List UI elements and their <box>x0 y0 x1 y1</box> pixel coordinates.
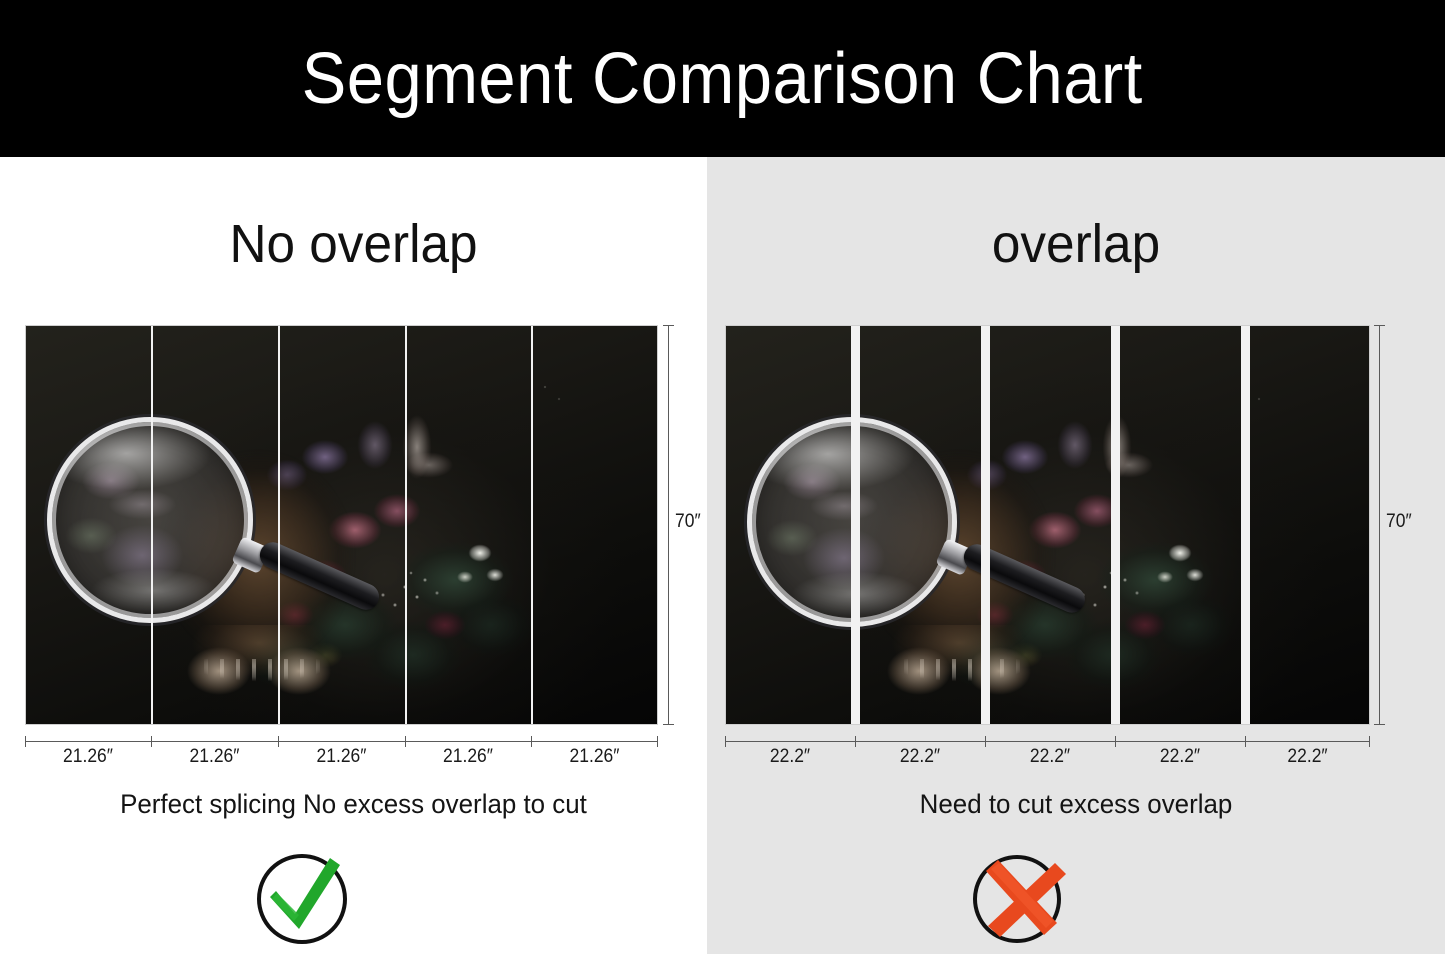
seam-line-overlap <box>1111 325 1120 725</box>
height-label-left: 70″ <box>675 511 701 533</box>
page-title: Segment Comparison Chart <box>302 43 1143 115</box>
height-dimension-left: 70″ <box>662 325 702 725</box>
panel-overlap: overlap <box>707 157 1445 954</box>
comparison-panels: No overlap <box>0 157 1445 954</box>
mural-overlap <box>725 325 1370 725</box>
dimension-tick <box>25 736 26 747</box>
dimension-line <box>25 741 658 742</box>
dimension-tick <box>151 736 152 747</box>
dimension-line <box>1379 325 1380 725</box>
dimension-tick <box>855 736 856 747</box>
seam-line <box>278 325 280 725</box>
mural-no-overlap <box>25 325 658 725</box>
dimension-tick <box>1374 724 1385 725</box>
dimension-line <box>725 741 1370 742</box>
seam-lines-left <box>25 325 658 725</box>
segment-width-label: 22.2″ <box>860 746 980 768</box>
dimension-tick <box>1374 325 1385 326</box>
segment-width-label: 21.26″ <box>536 746 653 768</box>
segment-comparison-page: Segment Comparison Chart No overlap <box>0 0 1445 954</box>
dimension-line <box>668 325 669 725</box>
segment-width-label: 21.26″ <box>410 746 526 768</box>
seam-line-overlap <box>851 325 860 725</box>
dimension-tick <box>405 736 406 747</box>
dimension-tick <box>1369 736 1370 747</box>
panel-no-overlap: No overlap <box>0 157 707 954</box>
segment-width-label: 21.26″ <box>30 746 146 768</box>
seam-line <box>151 325 153 725</box>
cross-icon <box>969 845 1073 949</box>
dimension-tick <box>531 736 532 747</box>
dimension-tick <box>1245 736 1246 747</box>
segment-width-label: 22.2″ <box>730 746 850 768</box>
heading-overlap: overlap <box>725 217 1426 271</box>
seam-lines-right <box>725 325 1370 725</box>
dimension-tick <box>278 736 279 747</box>
segment-width-label: 22.2″ <box>1250 746 1365 768</box>
width-dimensions-left: 21.26″ 21.26″ 21.26″ 21.26″ 21.26″ <box>25 741 658 783</box>
caption-overlap: Need to cut excess overlap <box>722 789 1430 820</box>
seam-line <box>531 325 533 725</box>
check-icon <box>250 845 354 949</box>
width-dimensions-right: 22.2″ 22.2″ 22.2″ 22.2″ 22.2″ <box>725 741 1370 783</box>
heading-no-overlap: No overlap <box>18 217 690 271</box>
caption-no-overlap: Perfect splicing No excess overlap to cu… <box>14 789 693 820</box>
dimension-tick <box>663 724 674 725</box>
height-label-right: 70″ <box>1386 511 1412 533</box>
segment-width-label: 22.2″ <box>990 746 1110 768</box>
seam-line <box>405 325 407 725</box>
segment-width-label: 21.26″ <box>156 746 273 768</box>
dimension-tick <box>657 736 658 747</box>
title-banner: Segment Comparison Chart <box>0 0 1445 157</box>
seam-line-overlap <box>981 325 990 725</box>
mural-artwork-right <box>725 325 1370 725</box>
segment-width-label: 21.26″ <box>283 746 400 768</box>
seam-line-overlap <box>1241 325 1250 725</box>
height-dimension-right: 70″ <box>1373 325 1413 725</box>
mural-artwork-left <box>25 325 658 725</box>
dimension-tick <box>725 736 726 747</box>
segment-width-label: 22.2″ <box>1120 746 1240 768</box>
dimension-tick <box>663 325 674 326</box>
dimension-tick <box>1115 736 1116 747</box>
dimension-tick <box>985 736 986 747</box>
